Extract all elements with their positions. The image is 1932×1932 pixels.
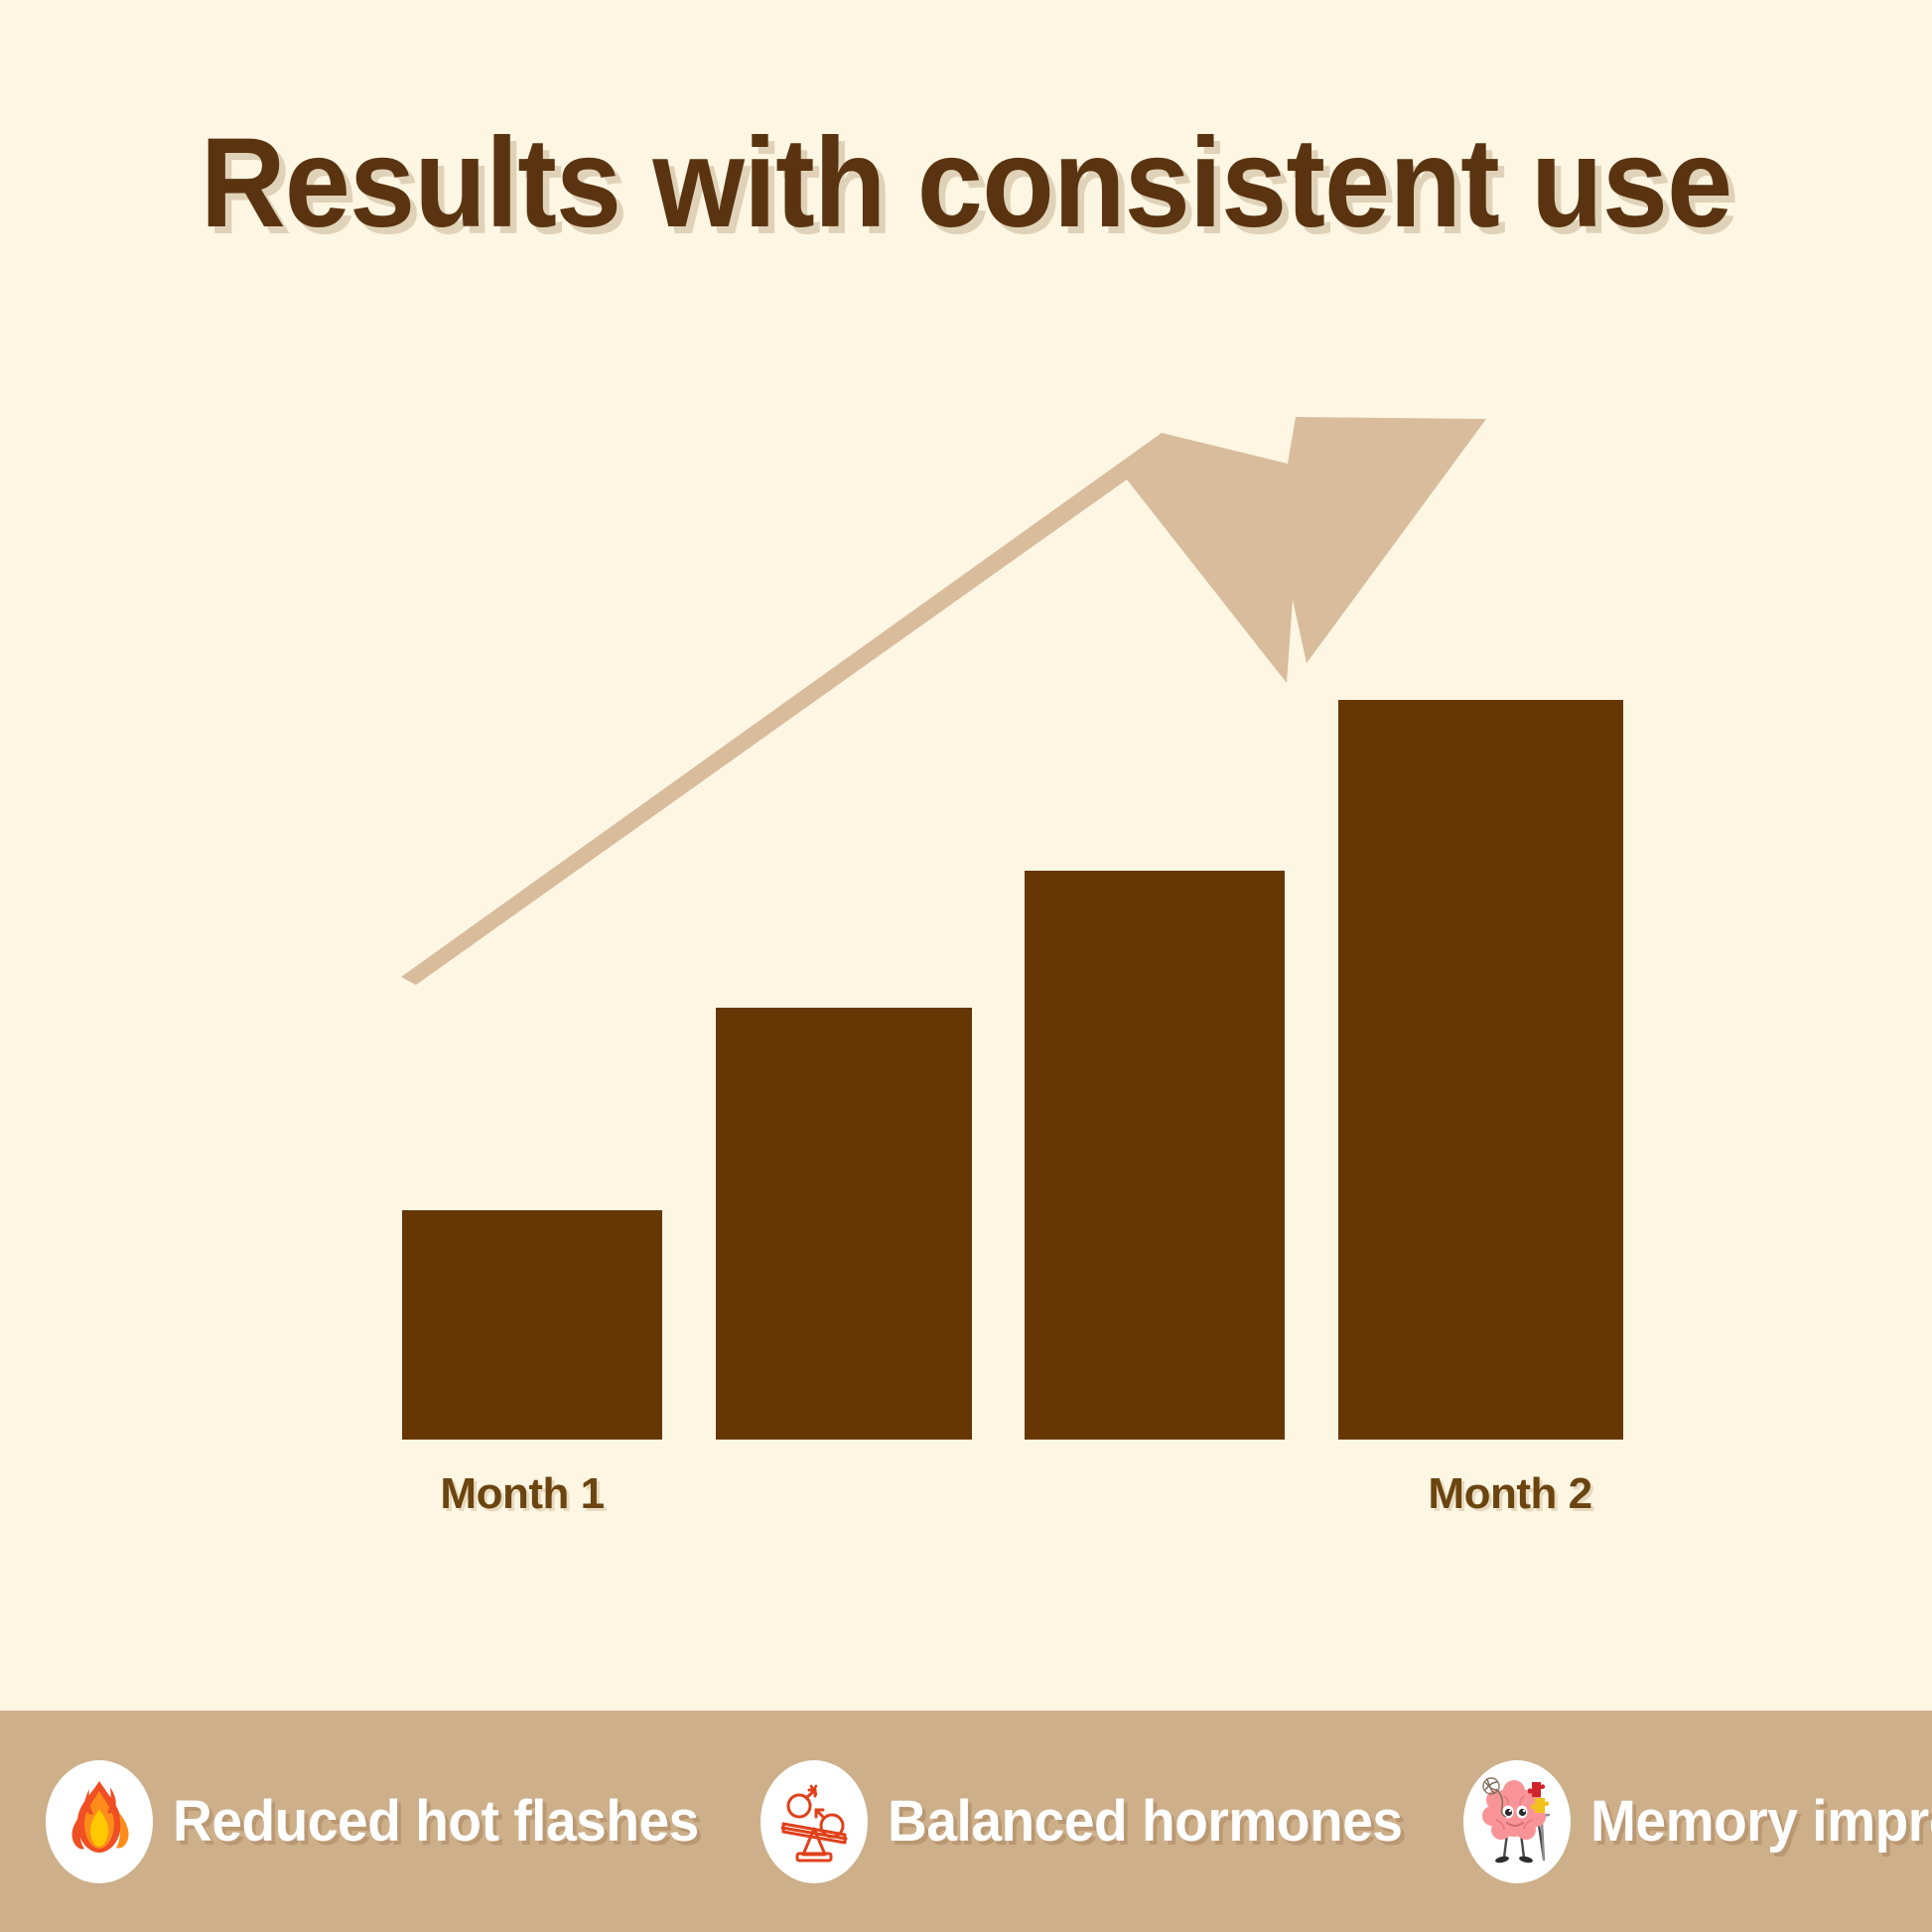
growth-arrow-icon (0, 0, 1932, 1711)
badge-balanced-hormones[interactable]: Balanced hormones (760, 1760, 1430, 1883)
bar-month-2 (1338, 700, 1623, 1440)
badge-memory-improved[interactable]: Memory improved (1463, 1760, 1932, 1883)
badge-label: Reduced hot flashes (173, 1788, 699, 1855)
flame-icon (46, 1760, 153, 1883)
bar-chart: Month 1 Month 2 (0, 0, 1932, 1711)
axis-label-month-1: Month 1 (324, 1469, 721, 1519)
benefits-banner: Reduced hot flashes (0, 1711, 1932, 1932)
brain-character-icon (1463, 1760, 1571, 1883)
badge-label: Balanced hormones (888, 1788, 1403, 1855)
poster-canvas: Results with consistent use Month 1 Mont… (0, 0, 1932, 1932)
bar-intermediate-2 (1025, 871, 1285, 1440)
axis-label-month-2: Month 2 (1311, 1469, 1709, 1519)
badge-reduced-hot-flashes[interactable]: Reduced hot flashes (46, 1760, 727, 1883)
bar-month-1 (402, 1210, 662, 1440)
bar-intermediate-1 (716, 1008, 972, 1440)
badge-label: Memory improved (1590, 1788, 1932, 1855)
balance-scale-gender-icon (760, 1760, 868, 1883)
